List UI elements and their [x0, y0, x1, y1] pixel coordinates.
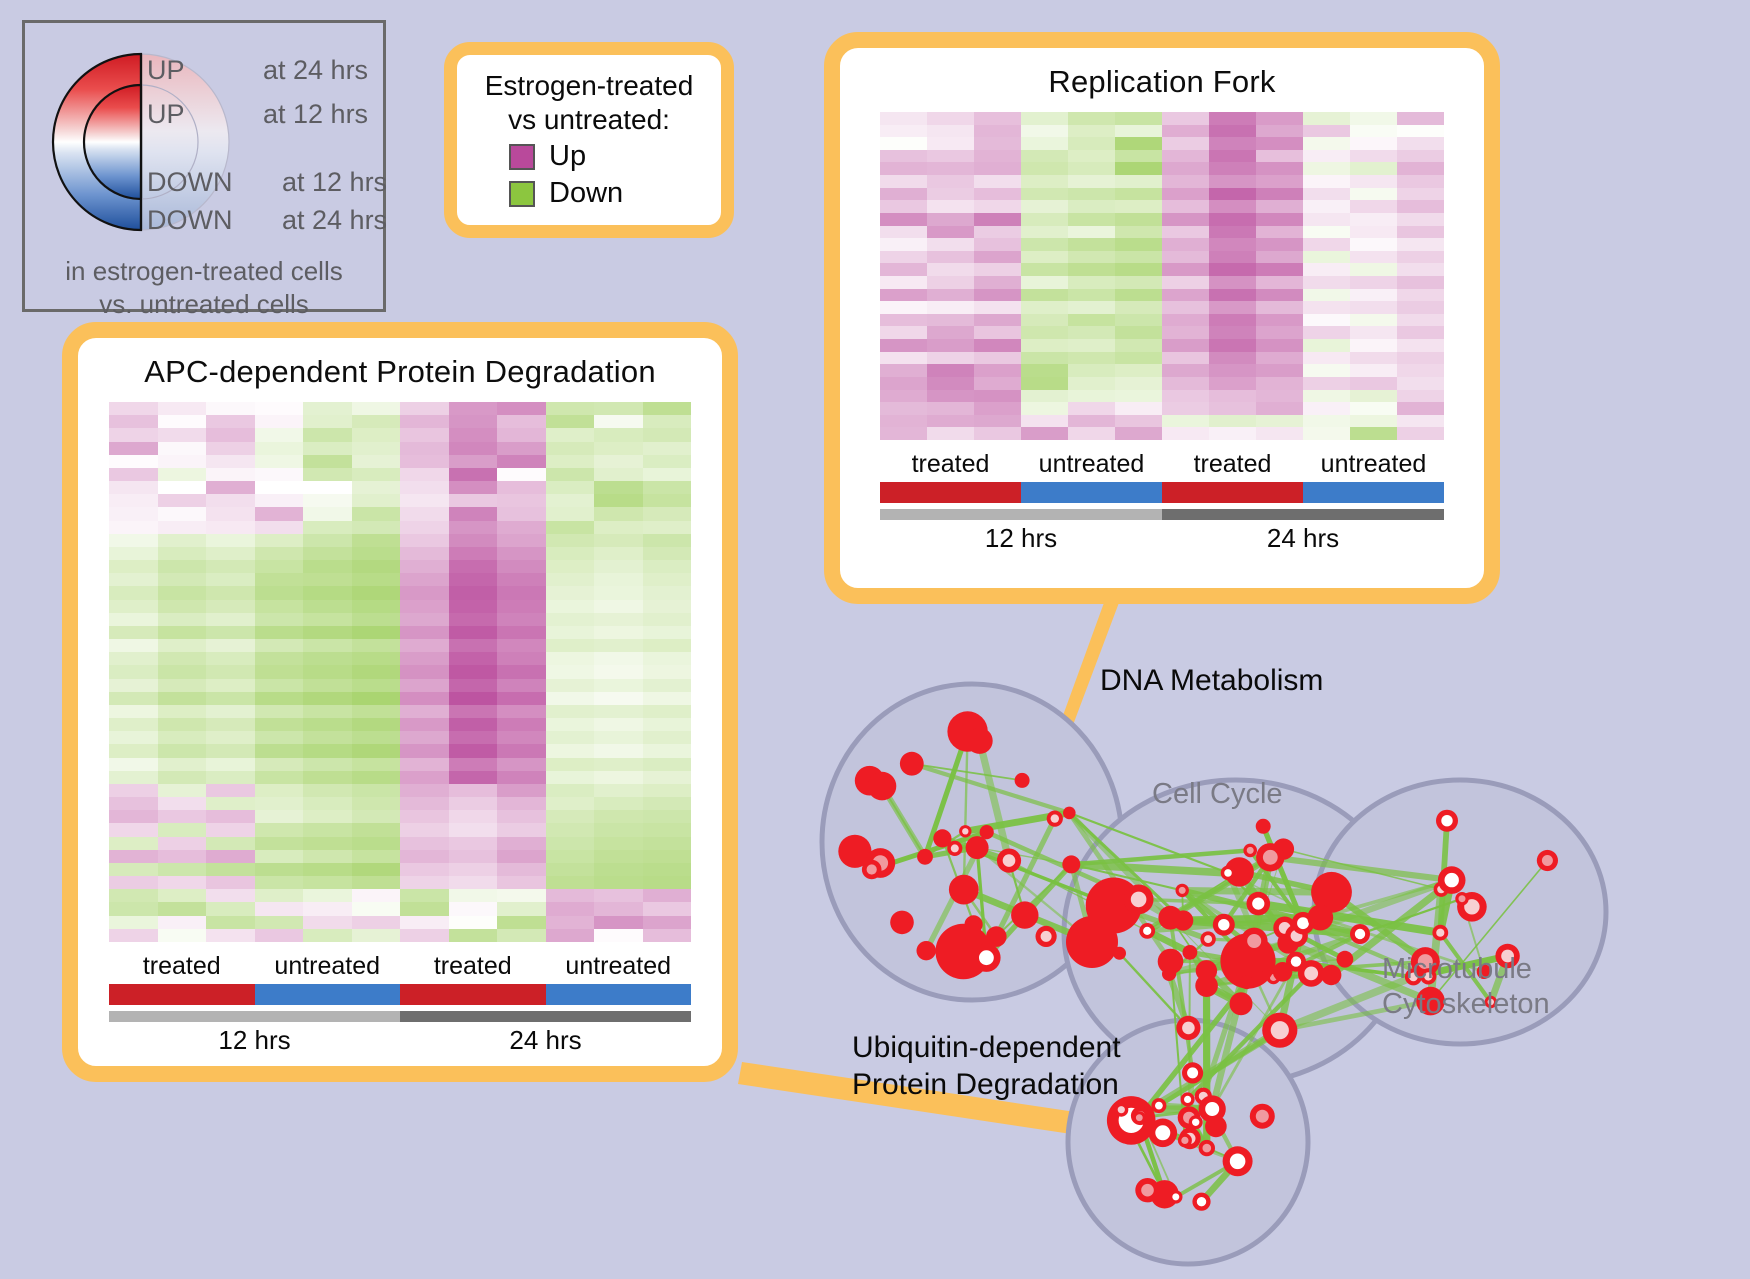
heatmap-cell — [1162, 125, 1209, 138]
network-node[interactable] — [967, 728, 993, 754]
heatmap-cell — [109, 573, 158, 586]
network-node[interactable] — [1221, 866, 1236, 881]
heatmap-cell — [1021, 263, 1068, 276]
heatmap-cell — [497, 402, 546, 415]
heatmap-cell — [974, 137, 1021, 150]
heatmap-cell — [880, 276, 927, 289]
network-node[interactable] — [1307, 905, 1333, 931]
node-inner-fill — [1179, 887, 1186, 894]
network-node[interactable] — [997, 849, 1021, 873]
heatmap-cell — [303, 863, 352, 876]
heatmap-cell — [643, 876, 692, 889]
heatmap-cell — [303, 731, 352, 744]
heatmap-cell — [158, 442, 207, 455]
node-outer-ring — [949, 875, 979, 905]
heatmap-cell — [927, 352, 974, 365]
network-node[interactable] — [1537, 850, 1558, 871]
heatmap-cell — [1068, 377, 1115, 390]
heatmap-cell — [643, 534, 692, 547]
heatmap-cell — [1303, 213, 1350, 226]
heatmap-cell — [546, 428, 595, 441]
replication-fork-panel: Replication Fork treateduntreatedtreated… — [824, 32, 1500, 604]
heatmap-cell — [643, 613, 692, 626]
label-microtubule-cytoskeleton: Microtubule Cytoskeleton — [1382, 952, 1550, 1023]
network-node[interactable] — [1183, 945, 1198, 960]
heatmap-cell — [400, 810, 449, 823]
heatmap-cell — [449, 679, 498, 692]
node-outer-ring — [1066, 916, 1118, 968]
heatmap-cell — [643, 731, 692, 744]
heatmap-cell — [1021, 200, 1068, 213]
network-node[interactable] — [1432, 925, 1448, 941]
heatmap-cell — [109, 468, 158, 481]
heatmap-cell — [109, 455, 158, 468]
key-panel-title: Estrogen-treated vs untreated: — [457, 55, 721, 136]
heatmap-cell — [880, 427, 927, 440]
heatmap-cell — [546, 705, 595, 718]
heatmap-cell — [1397, 352, 1444, 365]
heatmap-cell — [1350, 125, 1397, 138]
heatmap-cell — [1350, 226, 1397, 239]
network-node[interactable] — [1066, 916, 1118, 968]
heatmap-cell — [1068, 339, 1115, 352]
heatmap-cell — [1397, 301, 1444, 314]
heatmap-cell — [109, 837, 158, 850]
node-inner-fill — [1143, 927, 1151, 935]
heatmap-cell — [1256, 251, 1303, 264]
label-cell-cycle: Cell Cycle — [1152, 778, 1283, 811]
node-inner-fill — [1051, 814, 1059, 822]
network-node[interactable] — [1176, 884, 1189, 897]
heatmap-cell — [255, 613, 304, 626]
heatmap-cell — [594, 916, 643, 929]
heatmap-cell — [400, 837, 449, 850]
heatmap-cell — [927, 200, 974, 213]
heatmap-cell — [1021, 352, 1068, 365]
heatmap-cell — [449, 744, 498, 757]
heatmap-cell — [1068, 213, 1115, 226]
heatmap-cell — [1115, 150, 1162, 163]
network-node[interactable] — [972, 944, 1000, 972]
heatmap-cell — [497, 823, 546, 836]
heatmap-cell — [546, 521, 595, 534]
heatmap-cell — [1115, 213, 1162, 226]
heatmap-cell — [1068, 402, 1115, 415]
heatmap-cell — [927, 263, 974, 276]
axis-group-label: untreated — [546, 952, 692, 981]
heatmap-cell — [400, 639, 449, 652]
network-node[interactable] — [1063, 807, 1076, 820]
heatmap-cell — [352, 415, 401, 428]
heatmap-cell — [927, 326, 974, 339]
network-node[interactable] — [1169, 1190, 1182, 1203]
heatmap-cell — [303, 613, 352, 626]
heatmap-cell — [927, 125, 974, 138]
network-node[interactable] — [1230, 992, 1253, 1015]
heatmap-cell — [594, 929, 643, 942]
heatmap-cell — [303, 507, 352, 520]
heatmap-cell — [927, 415, 974, 428]
heatmap-cell — [497, 758, 546, 771]
heatmap-cell — [974, 125, 1021, 138]
network-node[interactable] — [1256, 819, 1271, 834]
heatmap-cell — [352, 507, 401, 520]
heatmap-cell — [206, 916, 255, 929]
network-node[interactable] — [965, 915, 983, 933]
heatmap-cell — [449, 823, 498, 836]
network-node[interactable] — [1321, 965, 1341, 985]
heatmap-cell — [255, 665, 304, 678]
node-inner-fill — [1304, 967, 1318, 981]
node-outer-ring — [986, 926, 1007, 947]
heatmap-cell — [400, 692, 449, 705]
heatmap-cell — [109, 613, 158, 626]
heatmap-cell — [594, 692, 643, 705]
heatmap-cell — [974, 301, 1021, 314]
node-outer-ring — [1158, 906, 1182, 930]
heatmap-cell — [1115, 276, 1162, 289]
heatmap-cell — [497, 784, 546, 797]
axis-group-label: untreated — [255, 952, 401, 981]
heatmap-cell — [255, 771, 304, 784]
heatmap-cell — [255, 810, 304, 823]
heatmap-cell — [352, 521, 401, 534]
heatmap-cell — [158, 929, 207, 942]
heatmap-cell — [303, 665, 352, 678]
network-node[interactable] — [917, 941, 936, 960]
heatmap-cell — [1303, 415, 1350, 428]
heatmap-cell — [927, 226, 974, 239]
heatmap-cell — [1256, 125, 1303, 138]
heatmap-cell — [643, 428, 692, 441]
network-node[interactable] — [917, 849, 933, 865]
heatmap-cell — [1021, 175, 1068, 188]
network-node[interactable] — [1438, 866, 1466, 894]
heatmap-cell — [158, 731, 207, 744]
heatmap-cell — [109, 744, 158, 757]
heatmap-cell — [1068, 200, 1115, 213]
heatmap-cell — [1068, 276, 1115, 289]
network-node[interactable] — [1350, 924, 1370, 944]
node-inner-fill — [1445, 873, 1459, 887]
heatmap-cell — [449, 534, 498, 547]
heatmap-cell — [109, 652, 158, 665]
heatmap-cell — [400, 415, 449, 428]
heatmap-cell — [1209, 125, 1256, 138]
heatmap-cell — [206, 784, 255, 797]
network-node[interactable] — [1151, 1098, 1166, 1113]
heatmap-cell — [1115, 251, 1162, 264]
heatmap-cell — [400, 771, 449, 784]
heatmap-cell — [974, 175, 1021, 188]
node-inner-fill — [1218, 919, 1229, 930]
heatmap-cell — [1350, 162, 1397, 175]
node-inner-fill — [1542, 855, 1553, 866]
heatmap-cell — [1256, 402, 1303, 415]
node-inner-fill — [1155, 1102, 1163, 1110]
network-node[interactable] — [868, 772, 897, 801]
legend-time-down-24: at 24 hrs — [282, 205, 387, 236]
heatmap-cell — [974, 188, 1021, 201]
network-node[interactable] — [862, 860, 882, 880]
network-node[interactable] — [1162, 967, 1176, 981]
heatmap-cell — [643, 665, 692, 678]
heatmap-cell — [303, 902, 352, 915]
network-node[interactable] — [1436, 810, 1458, 832]
treatment-bar-segment — [546, 984, 692, 1005]
node-inner-fill — [1131, 892, 1147, 908]
legend-time-up-24: at 24 hrs — [263, 55, 368, 86]
node-inner-fill — [1203, 1144, 1212, 1153]
heatmap-cell — [1303, 175, 1350, 188]
heatmap-cell — [1162, 339, 1209, 352]
network-node[interactable] — [1241, 928, 1268, 955]
heatmap-cell — [1162, 314, 1209, 327]
heatmap-cell — [927, 162, 974, 175]
heatmap-cell — [643, 916, 692, 929]
heatmap-cell — [1162, 226, 1209, 239]
heatmap-cell — [1115, 326, 1162, 339]
network-node[interactable] — [1189, 1115, 1203, 1129]
network-node[interactable] — [966, 836, 989, 859]
network-node[interactable] — [1149, 1119, 1178, 1148]
heatmap-cell — [109, 428, 158, 441]
network-node[interactable] — [933, 829, 951, 847]
heatmap-cell — [303, 837, 352, 850]
network-node[interactable] — [1047, 811, 1063, 827]
heatmap-cell — [206, 586, 255, 599]
network-node[interactable] — [1158, 906, 1182, 930]
heatmap-cell — [880, 251, 927, 264]
network-node[interactable] — [1011, 901, 1038, 928]
heatmap-cell — [158, 718, 207, 731]
heatmap-cell — [974, 226, 1021, 239]
network-node[interactable] — [1337, 951, 1354, 968]
network-node[interactable] — [1200, 931, 1215, 946]
heatmap-cell — [206, 758, 255, 771]
heatmap-cell — [927, 390, 974, 403]
network-node[interactable] — [1139, 923, 1155, 939]
heatmap-cell — [1303, 188, 1350, 201]
network-node[interactable] — [1192, 1193, 1210, 1211]
heatmap-cell — [974, 213, 1021, 226]
heatmap-cell — [1350, 427, 1397, 440]
network-node[interactable] — [1243, 844, 1257, 858]
heatmap-cell — [974, 415, 1021, 428]
heatmap-cell — [1303, 150, 1350, 163]
heatmap-cell — [109, 810, 158, 823]
network-node[interactable] — [1262, 1013, 1297, 1048]
heatmap-cell — [400, 521, 449, 534]
network-node[interactable] — [890, 911, 914, 935]
heatmap-cell — [158, 902, 207, 915]
node-outer-ring — [966, 836, 989, 859]
heatmap-cell — [206, 902, 255, 915]
heatmap-cell — [400, 455, 449, 468]
network-node[interactable] — [1178, 1133, 1192, 1147]
heatmap-cell — [1256, 137, 1303, 150]
heatmap-cell — [449, 600, 498, 613]
heatmap-cell — [927, 314, 974, 327]
heatmap-cell — [1397, 125, 1444, 138]
network-node[interactable] — [1213, 914, 1235, 936]
heatmap-cell — [352, 823, 401, 836]
heatmap-cell — [497, 494, 546, 507]
heatmap-cell — [400, 573, 449, 586]
heatmap-cell — [1303, 339, 1350, 352]
heatmap-cell — [158, 784, 207, 797]
network-node[interactable] — [1240, 975, 1254, 989]
heatmap-cell — [1068, 390, 1115, 403]
heatmap-cell — [1209, 402, 1256, 415]
heatmap-cell — [109, 600, 158, 613]
network-node[interactable] — [1114, 1103, 1128, 1117]
heatmap-cell — [400, 468, 449, 481]
timepoint-label: 24 hrs — [1162, 523, 1444, 554]
heatmap-cell — [449, 771, 498, 784]
network-node[interactable] — [949, 875, 979, 905]
heatmap-cell — [880, 263, 927, 276]
heatmap-cell — [497, 705, 546, 718]
network-node[interactable] — [1247, 892, 1271, 916]
heatmap-cell — [303, 652, 352, 665]
heatmap-cell — [109, 547, 158, 560]
heatmap-cell — [594, 758, 643, 771]
heatmap-cell — [158, 823, 207, 836]
heatmap-cell — [1115, 377, 1162, 390]
network-node[interactable] — [980, 825, 994, 839]
heatmap-cell — [1397, 427, 1444, 440]
node-outer-ring — [1321, 965, 1341, 985]
heatmap-cell — [927, 137, 974, 150]
heatmap-cell — [1303, 162, 1350, 175]
node-outer-ring — [1337, 951, 1354, 968]
network-node[interactable] — [1181, 1092, 1195, 1106]
heatmap-cell — [880, 289, 927, 302]
heatmap-cell — [352, 639, 401, 652]
heatmap-cell — [546, 744, 595, 757]
heatmap-cell — [1209, 251, 1256, 264]
heatmap-cell — [1209, 427, 1256, 440]
heatmap-cell — [546, 573, 595, 586]
heatmap-cell — [1209, 377, 1256, 390]
network-node[interactable] — [1273, 962, 1293, 982]
node-inner-fill — [1141, 1184, 1154, 1197]
heatmap-cell — [1350, 188, 1397, 201]
heatmap-cell — [497, 665, 546, 678]
heatmap-cell — [303, 534, 352, 547]
network-node[interactable] — [1455, 892, 1468, 905]
network-node[interactable] — [986, 926, 1007, 947]
network-node[interactable] — [1036, 926, 1057, 947]
network-node[interactable] — [1135, 1178, 1159, 1202]
axis-group-labels: treateduntreatedtreateduntreated — [880, 450, 1444, 479]
heatmap-cell — [1068, 137, 1115, 150]
network-node[interactable] — [1205, 1116, 1227, 1138]
network-node[interactable] — [1250, 1104, 1275, 1129]
heatmap-cell — [974, 150, 1021, 163]
heatmap-cell — [643, 784, 692, 797]
heatmap-cell — [400, 744, 449, 757]
heatmap-cell — [449, 521, 498, 534]
heatmap-cell — [449, 758, 498, 771]
heatmap-cell — [974, 162, 1021, 175]
heatmap-cell — [1350, 339, 1397, 352]
heatmap-cell — [594, 547, 643, 560]
heatmap-cell — [109, 771, 158, 784]
heatmap-cell — [1397, 175, 1444, 188]
network-node[interactable] — [959, 825, 971, 837]
heatmap-cell — [1021, 301, 1068, 314]
heatmap-cell — [255, 929, 304, 942]
heatmap-cell — [206, 771, 255, 784]
heatmap-cell — [255, 402, 304, 415]
heatmap-cell — [1162, 175, 1209, 188]
timepoint-label: 12 hrs — [109, 1025, 400, 1056]
heatmap-cell — [206, 442, 255, 455]
heatmap-cell — [497, 547, 546, 560]
heatmap-cell — [109, 534, 158, 547]
label-microtubule-line2: Cytoskeleton — [1382, 987, 1550, 1022]
heatmap-cell — [1303, 226, 1350, 239]
network-node[interactable] — [1133, 1111, 1146, 1124]
heatmap-cell — [449, 626, 498, 639]
network-node[interactable] — [1176, 1016, 1200, 1040]
heatmap-cell — [546, 758, 595, 771]
heatmap-cell — [1162, 213, 1209, 226]
network-node[interactable] — [1196, 960, 1217, 981]
heatmap-cell — [594, 415, 643, 428]
heatmap-cell — [352, 718, 401, 731]
heatmap-cell — [643, 797, 692, 810]
label-ubiquitin-line2: Protein Degradation — [852, 1067, 1121, 1104]
heatmap-cell — [206, 889, 255, 902]
heatmap-cell — [643, 402, 692, 415]
network-node[interactable] — [1015, 773, 1030, 788]
heatmap-cell — [643, 718, 692, 731]
timepoint-bar-segment — [1162, 509, 1444, 520]
heatmap-cell — [255, 442, 304, 455]
heatmap-cell — [400, 876, 449, 889]
heatmap-cell — [303, 521, 352, 534]
network-node[interactable] — [1182, 1062, 1203, 1083]
heatmap-cell — [158, 481, 207, 494]
heatmap-cell — [109, 784, 158, 797]
network-node[interactable] — [1062, 855, 1080, 873]
heatmap-cell — [880, 125, 927, 138]
node-inner-fill — [979, 950, 994, 965]
heatmap-cell — [158, 455, 207, 468]
heatmap-cell — [206, 639, 255, 652]
heatmap-cell — [449, 665, 498, 678]
heatmap-cell — [974, 112, 1021, 125]
apc-degradation-heatmap — [109, 402, 691, 942]
network-node[interactable] — [1223, 1146, 1253, 1176]
heatmap-cell — [1397, 263, 1444, 276]
heatmap-cell — [206, 810, 255, 823]
heatmap-cell — [880, 238, 927, 251]
network-node[interactable] — [1124, 885, 1154, 915]
node-outer-ring — [890, 911, 914, 935]
network-node[interactable] — [1256, 843, 1284, 871]
network-node[interactable] — [900, 752, 924, 776]
heatmap-cell — [352, 744, 401, 757]
heatmap-cell — [1397, 326, 1444, 339]
heatmap-cell — [1256, 427, 1303, 440]
heatmap-cell — [206, 600, 255, 613]
network-node[interactable] — [1199, 1140, 1215, 1156]
heatmap-cell — [449, 639, 498, 652]
